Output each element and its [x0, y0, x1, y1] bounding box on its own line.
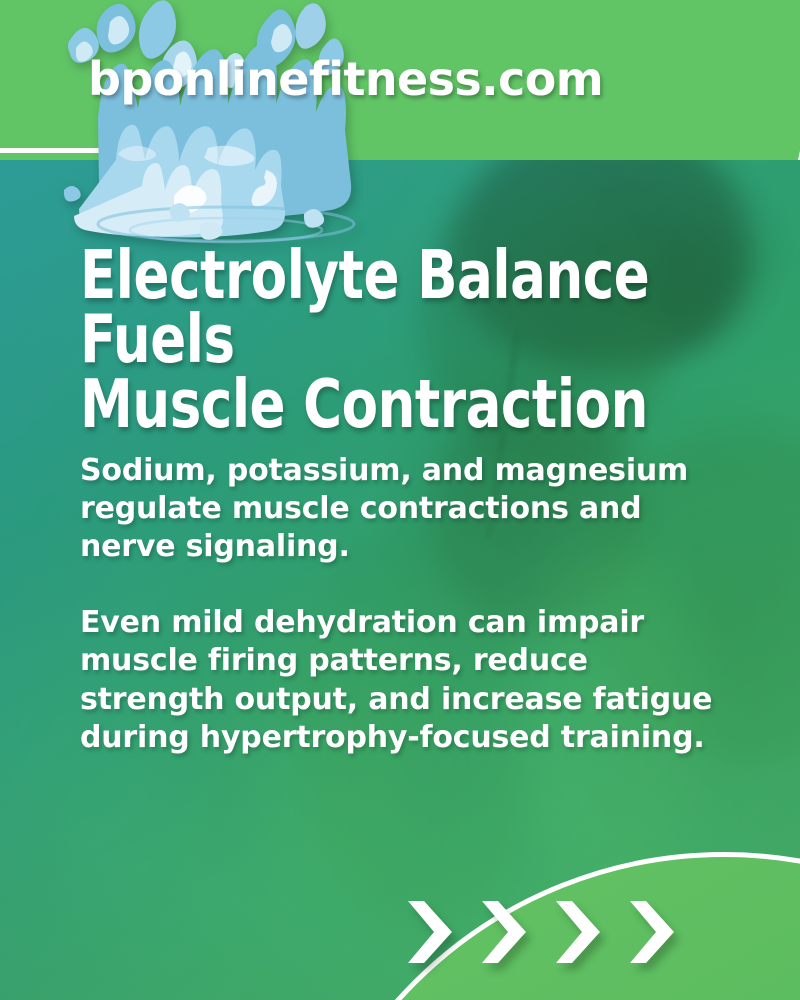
chevron-group — [404, 895, 678, 969]
footer-band — [0, 760, 800, 1000]
water-splash-icon — [58, 0, 388, 250]
page-title-line-1: Electrolyte Balance Fuels — [80, 236, 649, 378]
chevron-right-icon — [404, 895, 456, 969]
chevron-right-icon — [626, 895, 678, 969]
body-paragraph-2: Even mild dehydration can impair muscle … — [80, 604, 740, 756]
page-title: Electrolyte Balance Fuels Muscle Contrac… — [80, 243, 678, 436]
body-copy: Sodium, potassium, and magnesium regulat… — [80, 452, 740, 757]
brand-wordmark: bponlinefitness.com — [88, 52, 603, 106]
infographic-card: bponlinefitness.com Electrolyte Balance … — [0, 0, 800, 1000]
chevron-right-icon — [552, 895, 604, 969]
body-paragraph-1: Sodium, potassium, and magnesium regulat… — [80, 452, 740, 566]
chevron-right-icon — [478, 895, 530, 969]
page-title-line-2: Muscle Contraction — [80, 372, 678, 436]
